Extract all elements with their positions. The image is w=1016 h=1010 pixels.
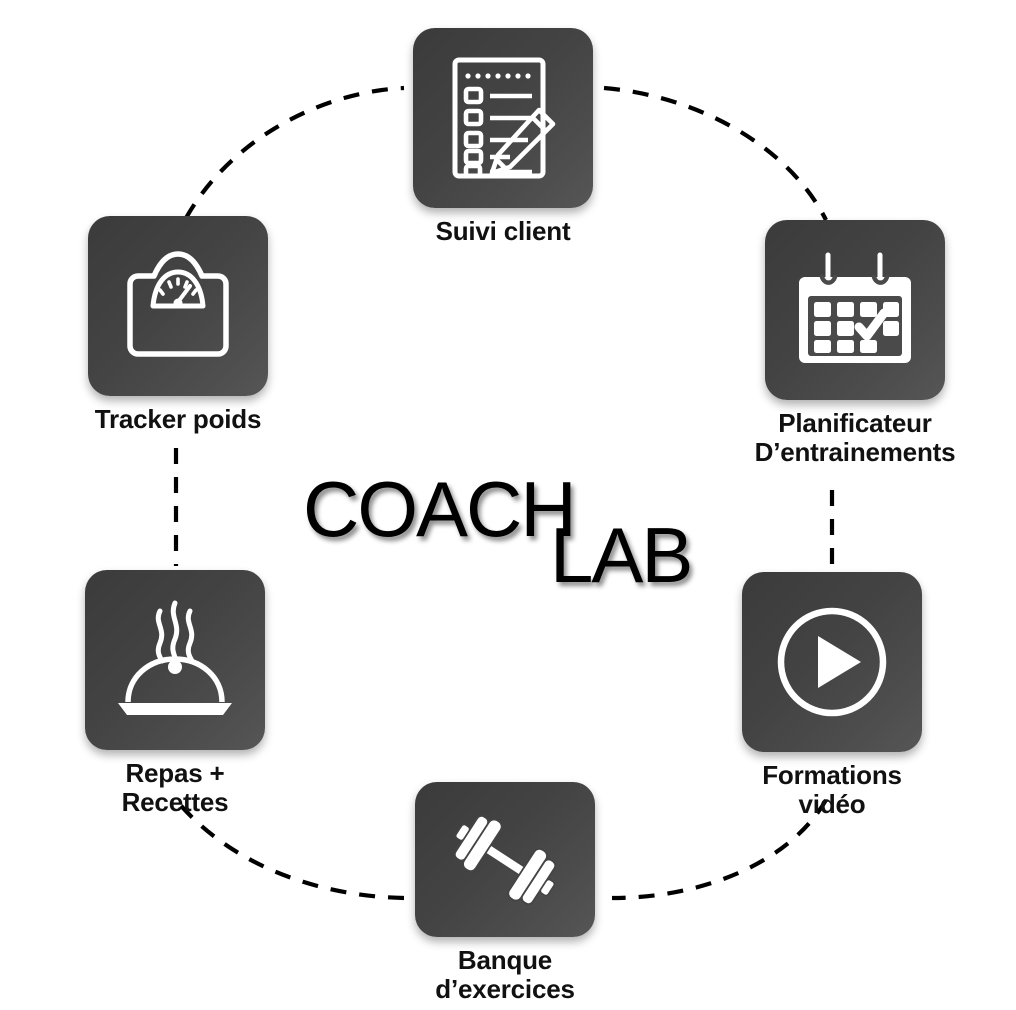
node-banque-exercices[interactable]: Banque d’exercices bbox=[415, 782, 595, 1004]
tile-suivi-client[interactable] bbox=[413, 28, 593, 208]
label-tracker-poids: Tracker poids bbox=[95, 405, 261, 434]
node-formations-video[interactable]: Formations vidéo bbox=[742, 572, 922, 819]
calendar-check-icon bbox=[795, 251, 915, 369]
play-circle-icon bbox=[773, 603, 891, 721]
label-repas-recettes: Repas + Recettes bbox=[85, 759, 265, 817]
label-planificateur-entrainements: Planificateur D’entrainements bbox=[755, 409, 956, 467]
node-repas-recettes[interactable]: Repas + Recettes bbox=[85, 570, 265, 817]
logo-word-coach: COACH bbox=[303, 470, 575, 548]
label-banque-exercices: Banque d’exercices bbox=[415, 946, 595, 1004]
diagram-canvas: Suivi client bbox=[0, 0, 1016, 1010]
connector-tracker-to-suivi bbox=[186, 88, 404, 218]
tile-repas-recettes[interactable] bbox=[85, 570, 265, 750]
node-tracker-poids[interactable]: Tracker poids bbox=[88, 216, 268, 434]
label-suivi-client: Suivi client bbox=[436, 217, 571, 246]
node-suivi-client[interactable]: Suivi client bbox=[408, 28, 598, 246]
cloche-steam-icon bbox=[110, 597, 240, 723]
tile-formations-video[interactable] bbox=[742, 572, 922, 752]
label-formations-video: Formations vidéo bbox=[742, 761, 922, 819]
logo-word-lab: LAB bbox=[550, 516, 691, 594]
dumbbell-icon bbox=[445, 805, 565, 915]
tile-banque-exercices[interactable] bbox=[415, 782, 595, 937]
bathroom-scale-icon bbox=[116, 244, 240, 368]
brand-logo: COACH LAB bbox=[298, 468, 698, 588]
node-planificateur-entrainements[interactable]: Planificateur D’entrainements bbox=[730, 220, 980, 467]
connector-suivi-to-planificateur bbox=[604, 88, 826, 220]
tile-tracker-poids[interactable] bbox=[88, 216, 268, 396]
tile-planificateur-entrainements[interactable] bbox=[765, 220, 945, 400]
checklist-pencil-icon bbox=[444, 54, 562, 182]
